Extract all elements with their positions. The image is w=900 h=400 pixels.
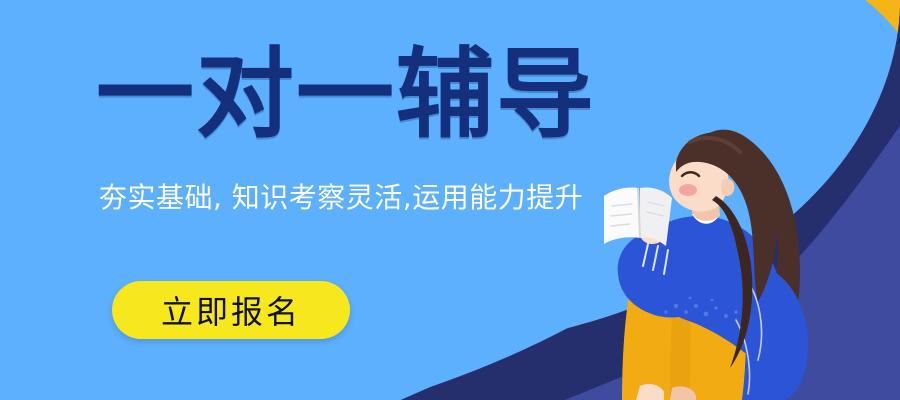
enroll-now-button[interactable]: 立即报名: [112, 281, 350, 339]
promo-banner: 一对一辅导 夯实基础, 知识考察灵活,运用能力提升 立即报名: [0, 0, 900, 400]
enroll-now-button-label: 立即报名: [161, 287, 301, 333]
banner-subtitle: 夯实基础, 知识考察灵活,运用能力提升: [99, 176, 583, 216]
banner-content: 一对一辅导 夯实基础, 知识考察灵活,运用能力提升 立即报名: [0, 0, 900, 400]
page-title: 一对一辅导: [96, 44, 596, 147]
